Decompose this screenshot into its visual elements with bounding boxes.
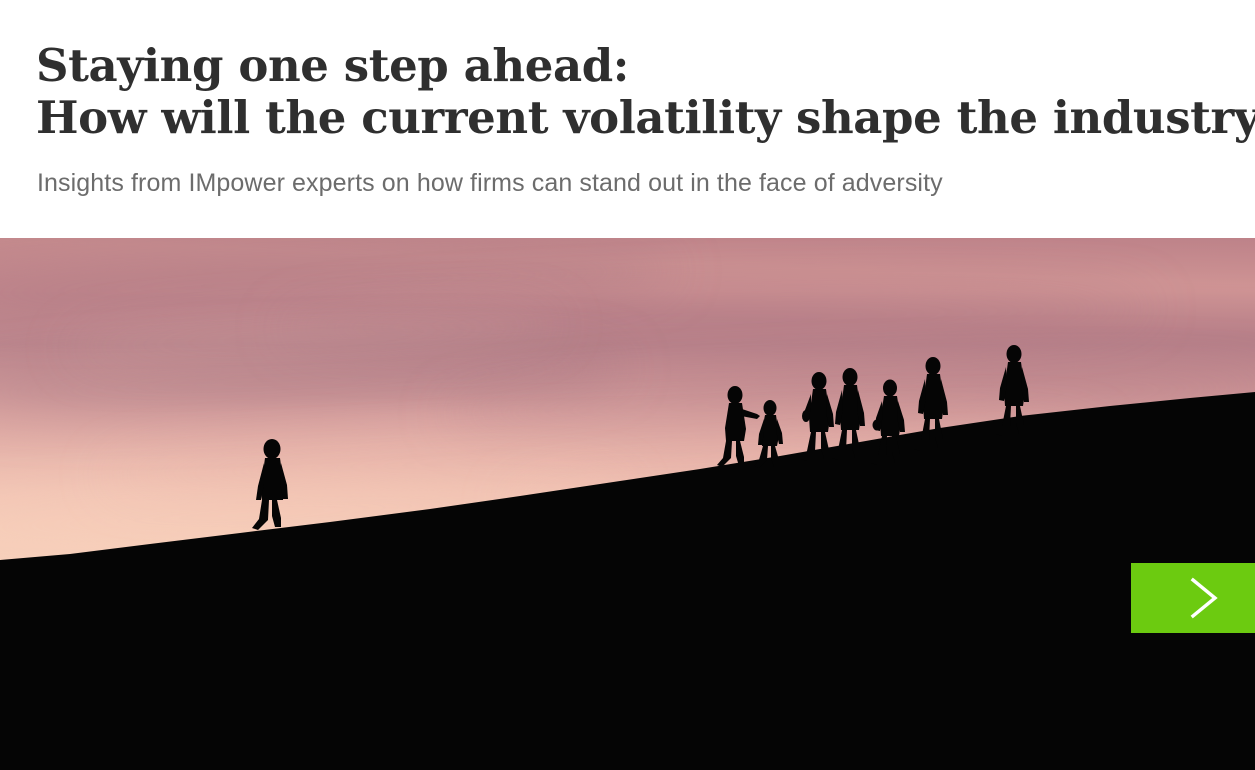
ridge-silhouette — [0, 238, 1255, 770]
page-subtitle: Insights from IMpower experts on how fir… — [37, 166, 943, 200]
page-title-line-1: Staying one step ahead: — [36, 40, 1226, 92]
figure-1 — [717, 386, 760, 467]
hillside-shape — [0, 392, 1255, 770]
hero-image: 1 / 9 — [0, 238, 1255, 770]
slide-page: Asset Management Staying one step ahead:… — [0, 0, 1255, 770]
header-block: Staying one step ahead: How will the cur… — [0, 0, 1255, 238]
page-title-line-2: How will the current volatility shape th… — [36, 92, 1226, 144]
page-title: Staying one step ahead: How will the cur… — [36, 40, 1226, 144]
figure-lead-walker — [252, 439, 288, 530]
next-slide-button[interactable] — [1131, 563, 1255, 633]
chevron-right-icon — [1183, 574, 1223, 622]
